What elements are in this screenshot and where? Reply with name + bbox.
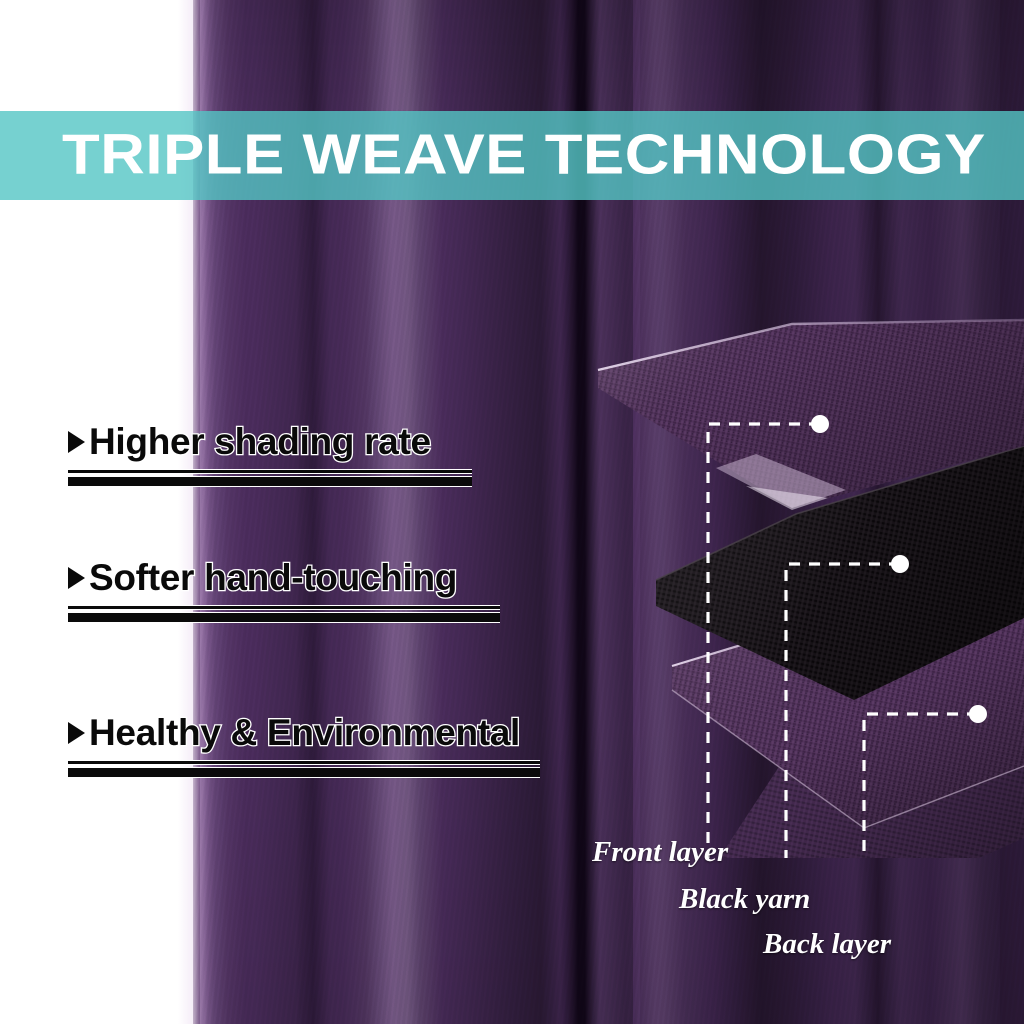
diagram-label-back-layer: Back layer (763, 930, 891, 959)
feature-item-softer-hand-touching: Softer hand-touching (68, 559, 500, 623)
underline-thin-bar (68, 469, 472, 474)
product-feature-image: Front layer Black yarn Back layer Higher… (0, 0, 1024, 1024)
diagram-label-front-layer: Front layer (592, 838, 728, 867)
page-title: TRIPLE WEAVE TECHNOLOGY (62, 126, 986, 183)
feature-underline (68, 469, 472, 487)
triangle-right-icon (68, 567, 85, 589)
feature-item-healthy-environmental: Healthy & Environmental (68, 714, 540, 778)
triple-weave-layer-diagram (596, 318, 1024, 858)
feature-item-higher-shading-rate: Higher shading rate (68, 423, 472, 487)
callout-dot-back-layer (969, 705, 987, 723)
triangle-right-icon (68, 722, 85, 744)
feature-label: Healthy & Environmental (89, 714, 520, 751)
feature-underline (68, 760, 540, 778)
feature-label: Higher shading rate (89, 423, 431, 460)
callout-dot-black-yarn (891, 555, 909, 573)
underline-thick-bar (68, 476, 472, 487)
feature-row: Softer hand-touching (68, 559, 500, 596)
title-banner: TRIPLE WEAVE TECHNOLOGY (0, 111, 1024, 200)
triangle-right-icon (68, 431, 85, 453)
underline-thin-bar (68, 605, 500, 610)
diagram-label-black-yarn: Black yarn (679, 885, 810, 914)
underline-thin-bar (68, 760, 540, 765)
callout-dot-front-layer (811, 415, 829, 433)
feature-label: Softer hand-touching (89, 559, 457, 596)
feature-row: Higher shading rate (68, 423, 472, 460)
feature-underline (68, 605, 500, 623)
underline-thick-bar (68, 612, 500, 623)
feature-row: Healthy & Environmental (68, 714, 540, 751)
underline-thick-bar (68, 767, 540, 778)
